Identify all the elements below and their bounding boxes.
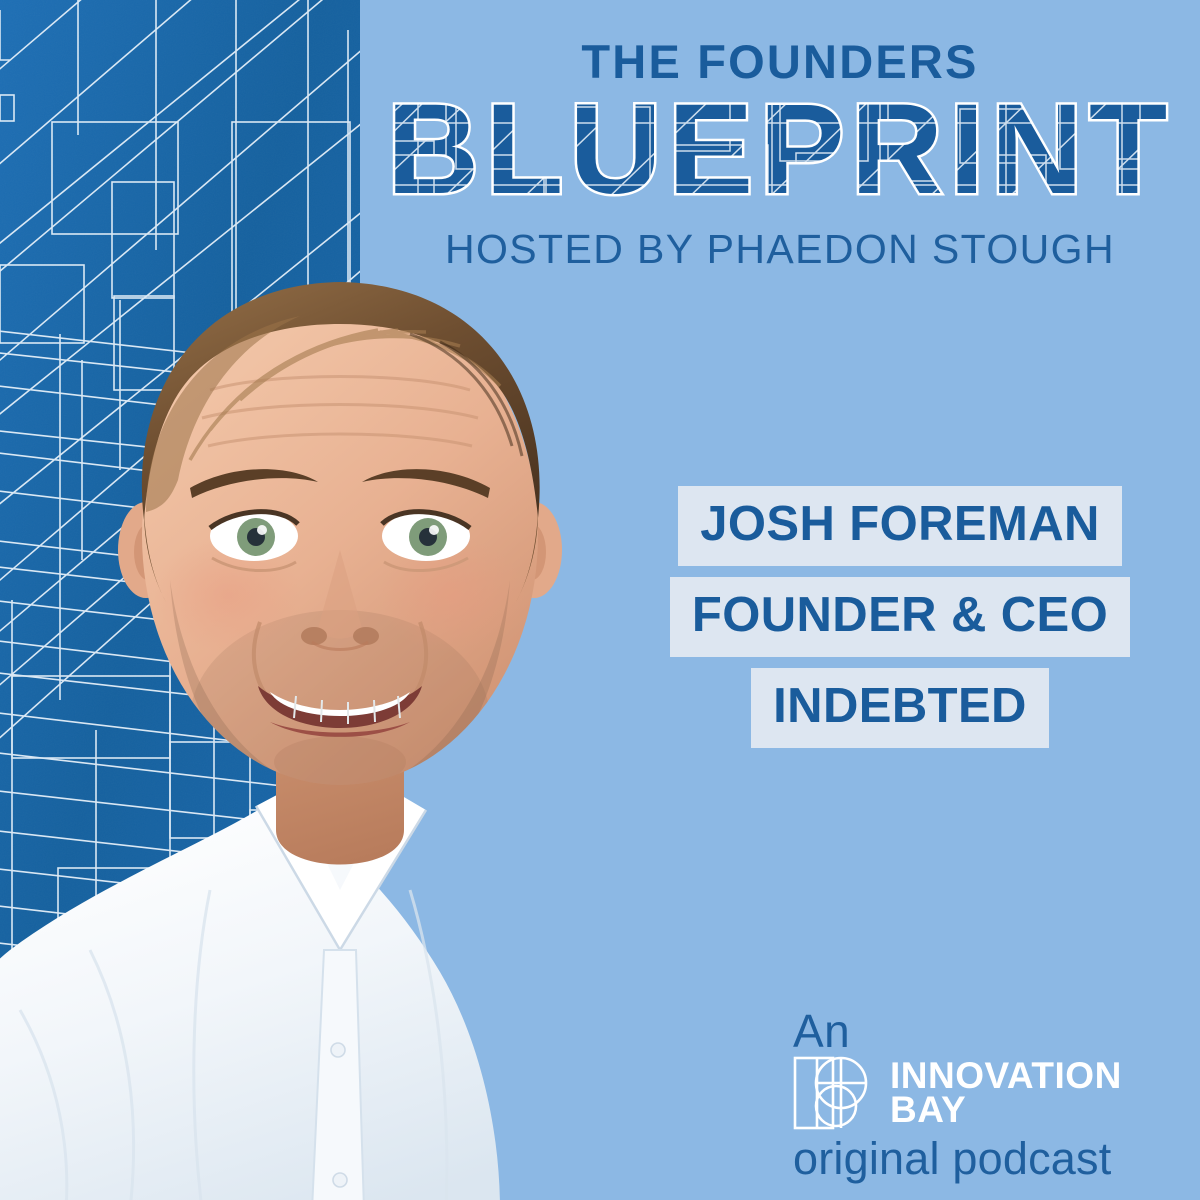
eyebrow-the-founders: THE FOUNDERS <box>360 0 1200 85</box>
innovation-bay-wordmark: INNOVATION BAY <box>890 1059 1122 1127</box>
blueprint-wordmark-text: BLUEPRINT <box>387 89 1173 217</box>
cover-header: THE FOUNDERS <box>360 0 1200 270</box>
guest-title-chip: FOUNDER & CEO <box>670 577 1130 657</box>
guest-info-stack: JOSH FOREMAN FOUNDER & CEO INDEBTED <box>620 486 1180 748</box>
podcast-cover-art: THE FOUNDERS <box>0 0 1200 1200</box>
an-label: An <box>793 1008 1173 1054</box>
host-line: HOSTED BY PHAEDON STOUGH <box>360 229 1200 270</box>
brand-line-bay: BAY <box>890 1093 1122 1127</box>
blueprint-wordmark: BLUEPRINT <box>360 89 1200 217</box>
innovation-bay-brand-row: INNOVATION BAY <box>793 1056 1173 1130</box>
brand-line-innovation: INNOVATION <box>890 1059 1122 1093</box>
original-podcast-tagline: original podcast <box>793 1136 1173 1181</box>
innovation-bay-lockup: An INNOVATION BAY original podcast <box>793 1008 1173 1181</box>
shirt <box>0 788 500 1200</box>
guest-company-chip: INDEBTED <box>751 668 1049 748</box>
innovation-bay-monogram-icon <box>793 1056 877 1130</box>
guest-name-chip: JOSH FOREMAN <box>678 486 1122 566</box>
face <box>142 282 540 830</box>
